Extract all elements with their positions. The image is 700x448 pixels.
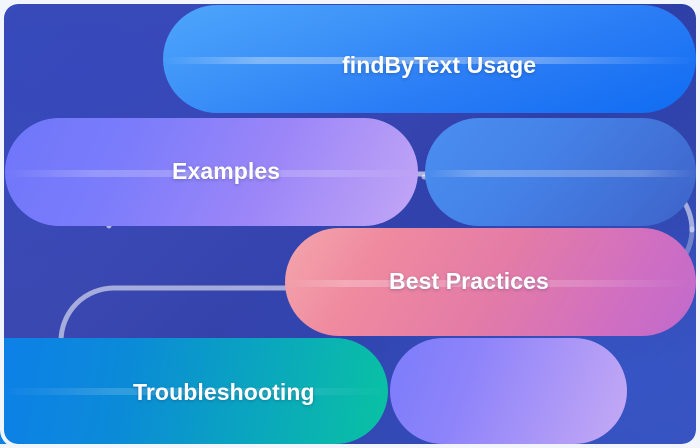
pill-label-examples: Examples <box>172 158 280 185</box>
pill-label-troubleshooting: Troubleshooting <box>133 379 315 406</box>
gloss-highlight <box>425 170 696 177</box>
pill-purple-accent-bottom[interactable] <box>390 338 627 444</box>
infographic-canvas: findByText Usage Examples Best Practices… <box>0 0 700 448</box>
pill-best-practices[interactable]: Best Practices <box>285 228 696 336</box>
pill-label-best-practices: Best Practices <box>389 268 549 295</box>
pill-examples[interactable]: Examples <box>5 118 418 226</box>
pill-find-by-text-usage[interactable]: findByText Usage <box>163 5 696 113</box>
pill-troubleshooting[interactable]: Troubleshooting <box>0 338 388 444</box>
pill-label-find-by-text-usage: findByText Usage <box>342 52 536 79</box>
pill-blue-accent-middle[interactable] <box>425 118 696 226</box>
